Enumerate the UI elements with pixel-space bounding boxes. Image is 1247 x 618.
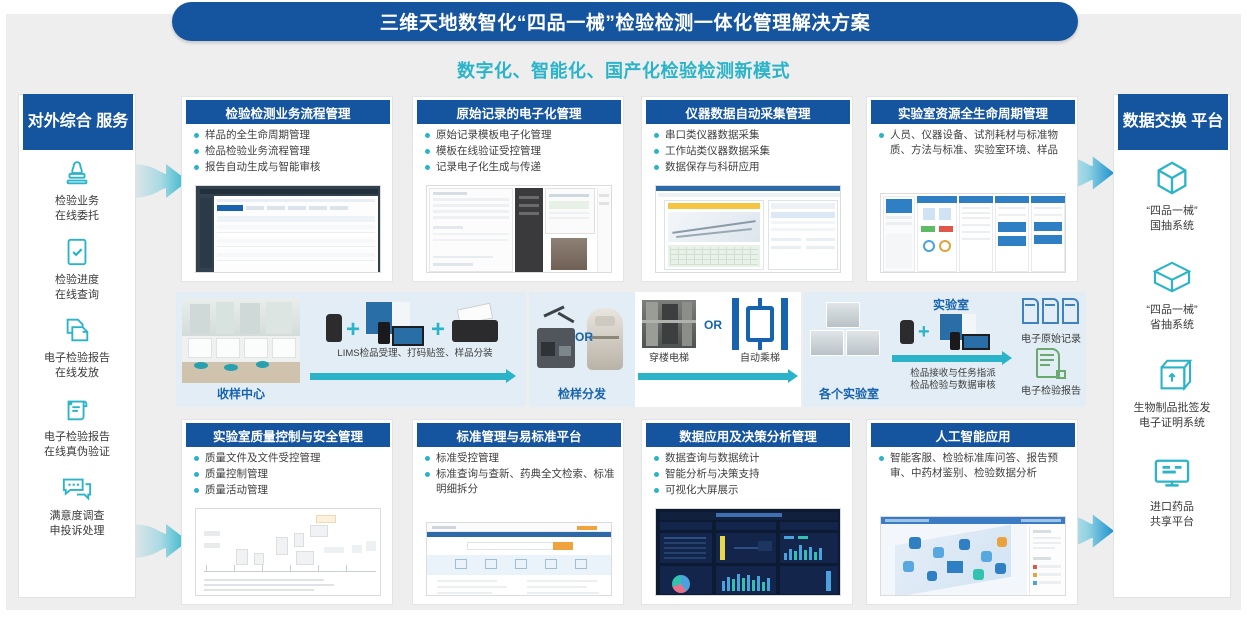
mobile-check-icon — [22, 234, 132, 270]
chromatogram-acquisition-screenshot — [655, 185, 841, 273]
list-item: 数据查询与数据统计 — [652, 451, 848, 466]
stamp-icon — [22, 155, 132, 191]
barcode-scanner-icon — [326, 314, 342, 342]
sidebar-right-title: 数据交换 平台 — [1123, 112, 1223, 132]
card-header: 原始记录的电子化管理 — [417, 100, 621, 124]
card-title: 人工智能应用 — [935, 426, 1010, 445]
card-title: 数据应用及决策分析管理 — [679, 426, 817, 445]
sidebar-item-label: 生物制品批签发 电子证明系统 — [1117, 401, 1227, 431]
list-item: 工作站类仪器数据采集 — [652, 144, 848, 159]
card-header: 标准管理与易标准平台 — [417, 423, 621, 447]
card-header: 实验室质量控制与安全管理 — [186, 423, 390, 447]
workflow-arrow-2 — [638, 372, 798, 381]
sidebar-item-label: 进口药品 共享平台 — [1117, 500, 1227, 530]
lims-workflow-table-screenshot — [195, 185, 381, 273]
plus-sign: + — [431, 318, 445, 342]
feature-card-standards-platform[interactable]: 标准管理与易标准平台 标准受控管理 标准查询与查新、药典全文检索、标准明细拆分 — [412, 419, 624, 605]
output-label-raw-record: 电子原始记录 — [1016, 330, 1086, 345]
card-bullet-list: 标准受控管理 标准查询与查新、药典全文检索、标准明细拆分 — [423, 451, 619, 499]
card-title: 实验室质量控制与安全管理 — [213, 426, 363, 445]
card-header: 检验检测业务流程管理 — [186, 100, 390, 124]
workflow-caption-reception: 收样中心 — [182, 385, 300, 402]
output-label-inspection-report: 电子检验报告 — [1014, 382, 1088, 397]
list-item: 标准受控管理 — [423, 451, 619, 466]
workstation-devices-icon — [364, 300, 426, 346]
label-printer-icon — [452, 306, 498, 342]
workstation-devices-icon — [938, 312, 994, 352]
wireframe-cube-icon — [1117, 155, 1227, 201]
monitor-icon — [1117, 451, 1227, 497]
paper-stack-icon — [1022, 298, 1080, 326]
ai-isometric-map-screenshot — [880, 516, 1066, 596]
feature-card-business-process[interactable]: 检验检测业务流程管理 样品的全生命周期管理 检品检验业务流程管理 报告自动生成与… — [181, 96, 393, 282]
card-bullet-list: 智能客服、检验标准库问答、报告预审、中药材鉴别、检验数据分析 — [877, 451, 1073, 482]
sidebar-item-imported-drug-platform[interactable]: 进口药品 共享平台 — [1117, 451, 1227, 530]
plus-sign: + — [918, 322, 930, 342]
workflow-caption-distribution: 检样分发 — [529, 385, 635, 402]
card-bullet-list: 样品的全生命周期管理 检品检验业务流程管理 报告自动生成与智能审核 — [192, 128, 388, 177]
feature-card-lab-resources[interactable]: 实验室资源全生命周期管理 人员、仪器设备、试剂耗材与标准物质、方法与标准、实验室… — [866, 96, 1078, 282]
barcode-scanner-icon — [900, 320, 914, 344]
sidebar-item-label: 检验进度 在线查询 — [22, 273, 132, 303]
solution-architecture-poster: 三维天地数智化“四品一械”检验检测一体化管理解决方案 数字化、智能化、国产化检验… — [0, 0, 1247, 618]
list-item: 质量控制管理 — [192, 467, 388, 482]
card-title: 标准管理与易标准平台 — [456, 426, 581, 445]
workflow-transport-right-label: 自动乘梯 — [728, 352, 792, 365]
card-header: 人工智能应用 — [871, 423, 1075, 447]
carton-box-icon — [1117, 352, 1227, 398]
card-header: 数据应用及决策分析管理 — [646, 423, 850, 447]
feature-card-data-decision[interactable]: 数据应用及决策分析管理 数据查询与数据统计 智能分析与决策支持 可视化大屏展示 — [641, 419, 853, 605]
sidebar-item-label: 电子检验报告 在线发放 — [22, 351, 132, 381]
sidebar-item-provincial-sampling[interactable]: “四品一械” 省抽系统 — [1117, 254, 1227, 333]
workflow-step3-note: 检品接收与任务指派 检品检验与数据审核 — [888, 368, 1018, 393]
list-item: 可视化大屏展示 — [652, 483, 848, 498]
list-item: 串口类仪器数据采集 — [652, 128, 848, 143]
card-bullet-list: 数据查询与数据统计 智能分析与决策支持 可视化大屏展示 — [652, 451, 848, 500]
record-template-editor-screenshot — [426, 185, 612, 273]
external-services-sidebar: 对外综合 服务 检验业务 在线委托 — [18, 94, 136, 598]
scroll-seal-icon — [1034, 348, 1068, 380]
building-elevator-photo — [642, 300, 696, 348]
card-bullet-list: 原始记录模板电子化管理 模板在线验证受控管理 记录电子化生成与传递 — [423, 128, 619, 177]
list-item: 数据保存与科研应用 — [652, 160, 848, 175]
workflow-arrow-3 — [892, 354, 1012, 363]
workflow-arrow-1 — [310, 372, 516, 381]
sidebar-item-satisfaction-survey[interactable]: 满意度调查 申投诉处理 — [22, 470, 132, 539]
card-bullet-list: 人员、仪器设备、试剂耗材与标准物质、方法与标准、实验室环境、样品 — [877, 128, 1073, 159]
card-header: 实验室资源全生命周期管理 — [871, 100, 1075, 124]
auto-elevator-icon — [732, 298, 788, 350]
workflow-step3-title: 实验室 — [896, 296, 1006, 313]
card-title: 实验室资源全生命周期管理 — [898, 103, 1048, 122]
documents-icon — [22, 312, 132, 348]
feature-card-quality-safety[interactable]: 实验室质量控制与安全管理 质量文件及文件受控管理 质量控制管理 质量活动管理 — [181, 419, 393, 605]
workflow-transport-left-label: 穿楼电梯 — [638, 352, 700, 365]
plus-sign: + — [346, 318, 360, 342]
sidebar-item-report-verify[interactable]: 电子检验报告 在线真伪验证 — [22, 391, 132, 460]
card-title: 检验检测业务流程管理 — [225, 103, 350, 122]
list-item: 质量文件及文件受控管理 — [192, 451, 388, 466]
sidebar-item-progress-query[interactable]: 检验进度 在线查询 — [22, 234, 132, 303]
card-bullet-list: 质量文件及文件受控管理 质量控制管理 质量活动管理 — [192, 451, 388, 500]
laboratories-grid-photo — [810, 302, 882, 364]
feature-card-ai-application[interactable]: 人工智能应用 智能客服、检验标准库问答、报告预审、中药材鉴别、检验数据分析 — [866, 419, 1078, 605]
list-item: 报告自动生成与智能审核 — [192, 160, 388, 175]
workflow-step1-note: LIMS检品受理、打码贴签、样品分装 — [306, 348, 524, 360]
card-header: 仪器数据自动采集管理 — [646, 100, 850, 124]
sidebar-item-national-sampling[interactable]: “四品一械” 国抽系统 — [1117, 155, 1227, 234]
sample-reception-lab-photo — [182, 298, 300, 383]
sidebar-right-header: 数据交换 平台 — [1118, 94, 1228, 150]
resource-dashboard-screenshot — [880, 193, 1066, 273]
sidebar-item-biologics-certificate[interactable]: 生物制品批签发 电子证明系统 — [1117, 352, 1227, 431]
feature-card-electronic-records[interactable]: 原始记录的电子化管理 原始记录模板电子化管理 模板在线验证受控管理 记录电子化生… — [412, 96, 624, 282]
certificate-icon — [22, 391, 132, 427]
feature-card-instrument-acquisition[interactable]: 仪器数据自动采集管理 串口类仪器数据采集 工作站类仪器数据采集 数据保存与科研应… — [641, 96, 853, 282]
quality-flowchart-screenshot — [195, 508, 381, 596]
list-item: 质量活动管理 — [192, 483, 388, 498]
list-item: 模板在线验证受控管理 — [423, 144, 619, 159]
sidebar-item-label: 检验业务 在线委托 — [22, 194, 132, 224]
sidebar-item-label: 满意度调查 申投诉处理 — [22, 509, 132, 539]
list-item: 智能客服、检验标准库问答、报告预审、中药材鉴别、检验数据分析 — [877, 451, 1073, 481]
sidebar-item-label: 电子检验报告 在线真伪验证 — [22, 430, 132, 460]
list-item: 记录电子化生成与传递 — [423, 160, 619, 175]
list-item: 样品的全生命周期管理 — [192, 128, 388, 143]
laboratory-workflow-band: 收样中心 + + LIMS检品受理、打码贴签、样品分装 — [176, 292, 1086, 407]
list-item: 标准查询与查新、药典全文检索、标准明细拆分 — [423, 467, 619, 497]
list-item: 原始记录模板电子化管理 — [423, 128, 619, 143]
data-exchange-sidebar: 数据交换 平台 “四品一械” 国抽系统 — [1113, 94, 1231, 598]
list-item: 智能分析与决策支持 — [652, 467, 848, 482]
sidebar-item-label: “四品一械” 省抽系统 — [1117, 303, 1227, 333]
sidebar-item-report-issue[interactable]: 电子检验报告 在线发放 — [22, 312, 132, 381]
card-title: 仪器数据自动采集管理 — [685, 103, 810, 122]
page-subtitle: 数字化、智能化、国产化检验检测新模式 — [0, 57, 1247, 83]
chat-bubble-icon — [22, 470, 132, 506]
standard-portal-screenshot — [426, 522, 612, 596]
or-label-distribution: OR — [575, 330, 593, 344]
open-box-icon — [1117, 254, 1227, 300]
page-title: 三维天地数智化“四品一械”检验检测一体化管理解决方案 — [380, 8, 871, 35]
card-title: 原始记录的电子化管理 — [456, 103, 581, 122]
sidebar-left-header: 对外综合 服务 — [23, 94, 133, 150]
sidebar-item-label: “四品一械” 国抽系统 — [1117, 204, 1227, 234]
list-item: 检品检验业务流程管理 — [192, 144, 388, 159]
card-bullet-list: 串口类仪器数据采集 工作站类仪器数据采集 数据保存与科研应用 — [652, 128, 848, 177]
list-item: 人员、仪器设备、试剂耗材与标准物质、方法与标准、实验室环境、样品 — [877, 128, 1073, 158]
workflow-caption-laboratories: 各个实验室 — [803, 385, 895, 402]
sidebar-left-title: 对外综合 服务 — [28, 112, 128, 132]
bi-dark-dashboard-screenshot — [655, 508, 841, 596]
page-title-bar: 三维天地数智化“四品一械”检验检测一体化管理解决方案 — [172, 2, 1078, 41]
or-label-transport: OR — [704, 318, 722, 332]
sidebar-item-inspection-entrust[interactable]: 检验业务 在线委托 — [22, 155, 132, 224]
